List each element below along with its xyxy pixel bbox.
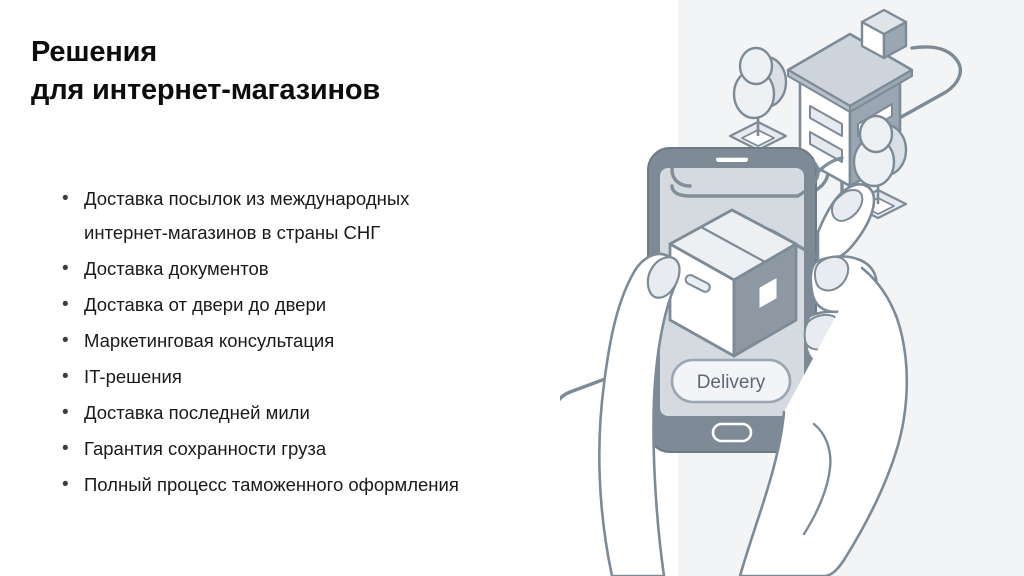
services-list: • Доставка посылок из международных инте… (58, 182, 618, 504)
bullet-marker-icon: • (58, 360, 84, 394)
list-item-label: Гарантия сохранности груза (84, 432, 326, 466)
list-item-label: Доставка от двери до двери (84, 288, 326, 322)
bullet-marker-icon: • (58, 182, 84, 216)
list-item-label: Доставка посылок из международных интерн… (84, 182, 409, 250)
delivery-illustration: Delivery (560, 0, 1024, 576)
bullet-marker-icon: • (58, 252, 84, 286)
list-item: • Полный процесс таможенного оформления (58, 468, 618, 502)
list-item-label: Полный процесс таможенного оформления (84, 468, 459, 502)
list-item-label: Маркетинговая консультация (84, 324, 334, 358)
page-title: Решения для интернет-магазинов (31, 34, 591, 109)
list-item-label: IT-решения (84, 360, 182, 394)
list-item: • Доставка посылок из международных инте… (58, 182, 618, 250)
delivery-button-label: Delivery (697, 372, 766, 393)
title-line-2: для интернет-магазинов (31, 72, 591, 110)
list-item: • Доставка документов (58, 252, 618, 286)
list-item: • Маркетинговая консультация (58, 324, 618, 358)
bullet-marker-icon: • (58, 324, 84, 358)
bullet-marker-icon: • (58, 288, 84, 322)
list-item-label: Доставка последней мили (84, 396, 310, 430)
delivery-button[interactable]: Delivery (672, 360, 790, 402)
list-item: • Гарантия сохранности груза (58, 432, 618, 466)
bullet-marker-icon: • (58, 396, 84, 430)
list-item-label: Доставка документов (84, 252, 269, 286)
bullet-marker-icon: • (58, 432, 84, 466)
bullet-marker-icon: • (58, 468, 84, 502)
list-item: • Доставка от двери до двери (58, 288, 618, 322)
tree-icon (730, 48, 786, 150)
list-item: • IT-решения (58, 360, 618, 394)
slide-root: Решения для интернет-магазинов • Доставк… (0, 0, 1024, 576)
title-line-1: Решения (31, 34, 591, 72)
list-item: • Доставка последней мили (58, 396, 618, 430)
phone-speaker (716, 157, 748, 162)
